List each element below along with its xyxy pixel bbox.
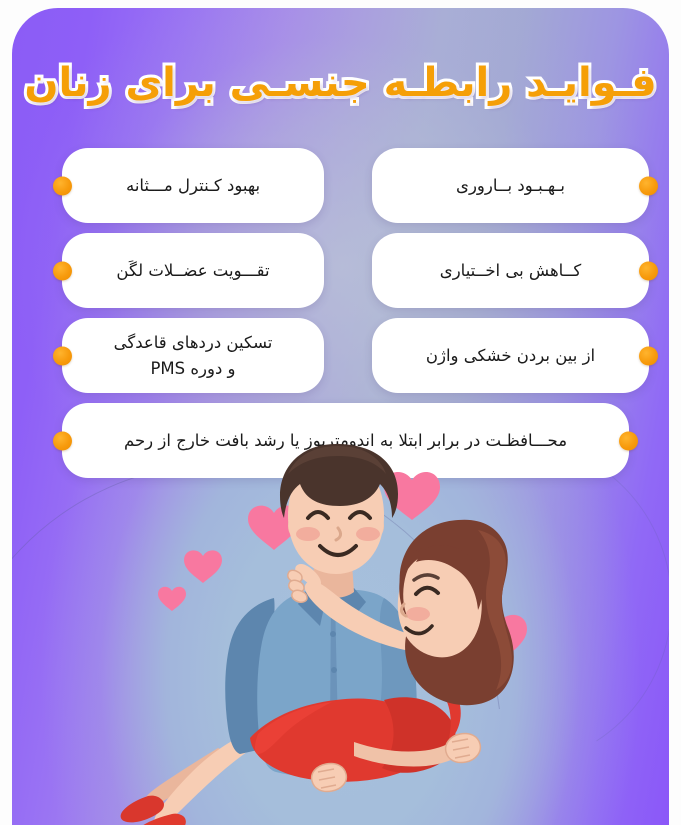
benefit-card-label: بـهـبـود بــاروری bbox=[456, 173, 565, 199]
woman-head bbox=[398, 520, 514, 706]
bullet-dot-icon bbox=[639, 261, 658, 280]
infographic-poster: فـوایـد رابطـه جنسـی برای زنان بـهـبـود … bbox=[0, 0, 681, 825]
benefit-card-left-3[interactable]: تسکین دردهای قاعدگی و دوره PMS bbox=[62, 318, 324, 393]
benefit-card-label-line2: و دوره PMS bbox=[150, 356, 235, 381]
benefit-card-left-2[interactable]: تقـــویت عضــلات لگَن bbox=[62, 233, 324, 308]
bullet-dot-icon bbox=[53, 346, 72, 365]
benefit-card-right-1[interactable]: بـهـبـود بــاروری bbox=[372, 148, 649, 223]
benefit-card-right-2[interactable]: کــاهش بی اخــتیاری bbox=[372, 233, 649, 308]
bullet-dot-icon bbox=[639, 346, 658, 365]
bullet-dot-icon bbox=[639, 176, 658, 195]
benefit-card-label: تقـــویت عضــلات لگَن bbox=[116, 258, 269, 284]
benefit-card-label-line1: تسکین دردهای قاعدگی bbox=[114, 330, 273, 355]
page-title: فـوایـد رابطـه جنسـی برای زنان bbox=[12, 60, 669, 107]
benefit-card-label: از بین بردن خشکی واژن bbox=[426, 343, 595, 369]
benefit-card-label: کــاهش بی اخــتیاری bbox=[440, 258, 581, 284]
benefit-card-right-3[interactable]: از بین بردن خشکی واژن bbox=[372, 318, 649, 393]
bullet-dot-icon bbox=[53, 176, 72, 195]
bullet-dot-icon bbox=[53, 261, 72, 280]
benefit-card-left-1[interactable]: بهبود کـنترل مـــثانه bbox=[62, 148, 324, 223]
poster-background: فـوایـد رابطـه جنسـی برای زنان بـهـبـود … bbox=[12, 8, 669, 825]
couple-embracing-illustration bbox=[12, 438, 669, 825]
benefit-card-label: بهبود کـنترل مـــثانه bbox=[126, 173, 260, 199]
man-head bbox=[280, 444, 398, 574]
